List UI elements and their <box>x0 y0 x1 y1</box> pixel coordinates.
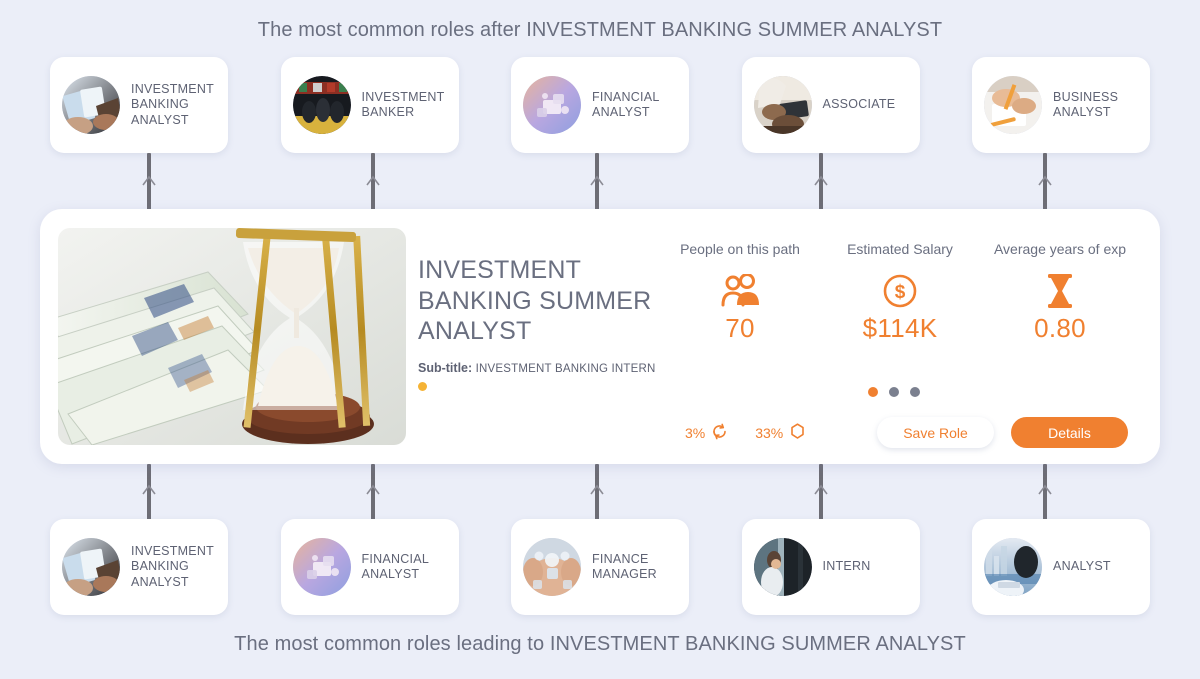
connector-arrow-up-1 <box>370 153 376 210</box>
arrow-head-up-icon <box>1038 484 1052 495</box>
stat-label: Estimated Salary <box>820 241 980 257</box>
role-card-label: ASSOCIATE <box>823 97 896 113</box>
role-card-next-1[interactable]: INVESTMENT BANKER <box>281 57 459 153</box>
connector-arrow-up-0 <box>146 153 152 210</box>
page-title-top: The most common roles after INVESTMENT B… <box>0 19 1200 42</box>
arrow-head-up-icon <box>814 484 828 495</box>
subtitle-status-dot <box>418 382 427 391</box>
role-card-label: FINANCIAL ANALYST <box>592 90 681 121</box>
role-card-label: INVESTMENT BANKING ANALYST <box>131 82 220 129</box>
role-avatar-prev-1 <box>293 538 351 596</box>
arrow-head-up-icon <box>590 175 604 186</box>
role-card-label: INTERN <box>823 559 871 575</box>
metric-growth: 3% <box>685 423 728 443</box>
connector-arrow-up-4 <box>1042 153 1048 210</box>
role-avatar-prev-4 <box>984 538 1042 596</box>
role-metrics: 3% 33% <box>685 423 806 443</box>
connector-arrow-up-6 <box>370 464 376 521</box>
connector-arrow-up-7 <box>594 464 600 521</box>
stat-label: Average years of exp <box>980 241 1140 257</box>
refresh-circle-icon <box>711 423 728 443</box>
details-button[interactable]: Details <box>1011 417 1128 448</box>
role-card-next-4[interactable]: BUSINESS ANALYST <box>972 57 1150 153</box>
hourglass-icon <box>980 270 1140 312</box>
subtitle-label: Sub-title: <box>418 361 472 375</box>
stat-estimated-salary: Estimated Salary $ $114K <box>820 241 980 344</box>
role-avatar-next-3 <box>754 76 812 134</box>
arrow-head-up-icon <box>1038 175 1052 186</box>
arrow-head-up-icon <box>590 484 604 495</box>
stat-value: 70 <box>660 313 820 344</box>
stat-label: People on this path <box>660 241 820 257</box>
role-card-label: INVESTMENT BANKER <box>362 90 451 121</box>
card-actions: Save Role Details <box>877 417 1128 448</box>
page-title-bottom: The most common roles leading to INVESTM… <box>0 633 1200 656</box>
page-title: INVESTMENT BANKING SUMMER ANALYST <box>418 255 688 347</box>
carousel-pagination[interactable] <box>868 387 920 397</box>
connector-arrow-up-5 <box>146 464 152 521</box>
role-avatar-prev-3 <box>754 538 812 596</box>
role-hero-image <box>58 228 406 445</box>
connector-arrow-up-8 <box>818 464 824 521</box>
role-avatar-prev-2 <box>523 538 581 596</box>
role-card-label: FINANCIAL ANALYST <box>362 552 451 583</box>
role-title-block: INVESTMENT BANKING SUMMER ANALYST Sub-ti… <box>418 255 688 391</box>
role-card-next-0[interactable]: INVESTMENT BANKING ANALYST <box>50 57 228 153</box>
role-card-label: INVESTMENT BANKING ANALYST <box>131 544 220 591</box>
role-avatar-next-4 <box>984 76 1042 134</box>
previous-roles-row: INVESTMENT BANKING ANALYST FINANCIAL ANA… <box>50 519 1150 615</box>
role-card-next-3[interactable]: ASSOCIATE <box>742 57 920 153</box>
role-stats: People on this path 70 Estimated Salary … <box>660 241 1140 344</box>
connector-arrow-up-2 <box>594 153 600 210</box>
stat-value: 0.80 <box>980 313 1140 344</box>
role-card-prev-1[interactable]: FINANCIAL ANALYST <box>281 519 459 615</box>
connector-arrow-up-9 <box>1042 464 1048 521</box>
role-card-label: FINANCE MANAGER <box>592 552 681 583</box>
pagination-dot-2[interactable] <box>910 387 920 397</box>
role-card-prev-3[interactable]: INTERN <box>742 519 920 615</box>
role-avatar-next-0 <box>62 76 120 134</box>
arrow-head-up-icon <box>366 175 380 186</box>
role-card-label: ANALYST <box>1053 559 1111 575</box>
svg-text:$: $ <box>895 282 906 303</box>
arrow-head-up-icon <box>142 484 156 495</box>
next-roles-row: INVESTMENT BANKING ANALYST INVESTMENT BA… <box>50 57 1150 153</box>
connector-arrow-up-3 <box>818 153 824 210</box>
dollar-circle-icon: $ <box>820 270 980 312</box>
role-card-label: BUSINESS ANALYST <box>1053 90 1142 121</box>
metric-value: 3% <box>685 425 705 441</box>
people-icon <box>660 270 820 312</box>
hexagon-outline-icon <box>789 423 806 443</box>
role-card-prev-0[interactable]: INVESTMENT BANKING ANALYST <box>50 519 228 615</box>
arrow-head-up-icon <box>366 484 380 495</box>
role-avatar-next-2 <box>523 76 581 134</box>
role-subtitle: Sub-title: INVESTMENT BANKING INTERN <box>418 361 688 375</box>
role-avatar-next-1 <box>293 76 351 134</box>
metric-value: 33% <box>755 425 783 441</box>
metric-share: 33% <box>755 423 806 443</box>
subtitle-value: INVESTMENT BANKING INTERN <box>476 363 656 375</box>
save-role-button[interactable]: Save Role <box>877 417 994 448</box>
role-avatar-prev-0 <box>62 538 120 596</box>
role-card-prev-2[interactable]: FINANCE MANAGER <box>511 519 689 615</box>
pagination-dot-0[interactable] <box>868 387 878 397</box>
pagination-dot-1[interactable] <box>889 387 899 397</box>
stat-people-on-path: People on this path 70 <box>660 241 820 344</box>
role-card-next-2[interactable]: FINANCIAL ANALYST <box>511 57 689 153</box>
arrow-head-up-icon <box>814 175 828 186</box>
arrow-head-up-icon <box>142 175 156 186</box>
stat-value: $114K <box>820 313 980 344</box>
role-card-prev-4[interactable]: ANALYST <box>972 519 1150 615</box>
stat-average-years-exp: Average years of exp 0.80 <box>980 241 1140 344</box>
